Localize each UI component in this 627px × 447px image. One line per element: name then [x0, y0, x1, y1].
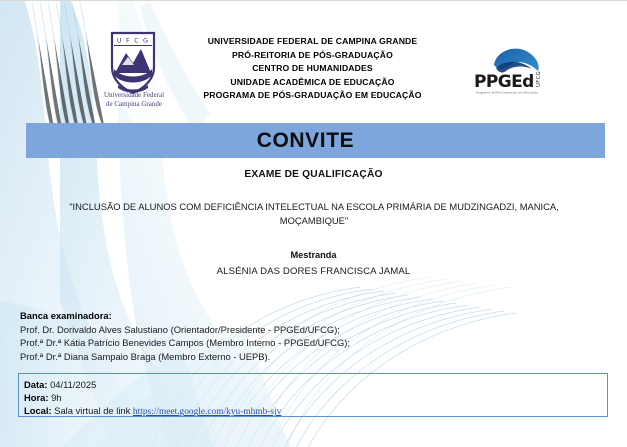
ppged-logo: PPGEd UFCG Programa de Pós-Graduação em …	[466, 43, 550, 97]
event-details-box: Data: 04/11/2025 Hora: 9h Local: Sala vi…	[18, 373, 608, 417]
svg-text:U F C G: U F C G	[117, 36, 149, 44]
date-label: Data:	[24, 379, 47, 390]
detail-row-date: Data: 04/11/2025	[24, 378, 607, 391]
place-value: Sala virtual de link	[54, 405, 130, 416]
thesis-title: "INCLUSÃO DE ALUNOS COM DEFICIÊNCIA INTE…	[34, 200, 594, 228]
header-line-2: PRÓ-REITORIA DE PÓS-GRADUAÇÃO	[175, 49, 450, 63]
committee-member: Prof.ª Dr.ª Diana Sampaio Braga (Membro …	[20, 350, 450, 364]
exam-type-label: EXAME DE QUALIFICAÇÃO	[0, 169, 627, 180]
convite-page: U F C G Universidade Federal de Campina …	[0, 0, 627, 447]
header-line-3: CENTRO DE HUMANIDADES	[175, 62, 450, 76]
place-label: Local:	[24, 405, 52, 416]
committee-member: Prof. Dr. Dorivaldo Alves Salustiano (Or…	[20, 323, 450, 337]
meet-link[interactable]: https://meet.google.com/kyu-mhmb-sjv	[133, 407, 281, 417]
ufcg-logo-caption: Universidade Federal de Campina Grande	[92, 91, 176, 108]
convite-banner: CONVITE	[26, 123, 605, 158]
svg-text:UFCG: UFCG	[536, 71, 542, 87]
header-line-5: PROGRAMA DE PÓS-GRADUAÇÃO EM EDUCAÇÃO	[175, 89, 450, 103]
institution-header-text: UNIVERSIDADE FEDERAL DE CAMPINA GRANDE P…	[175, 35, 450, 103]
student-name: ALSÉNIA DAS DORES FRANCISCA JAMAL	[0, 266, 627, 277]
student-role-label: Mestranda	[0, 250, 627, 260]
convite-title: CONVITE	[257, 129, 355, 153]
ufcg-caption-line-1: Universidade Federal	[92, 91, 176, 100]
header-line-4: UNIDADE ACADÊMICA DE EDUCAÇÃO	[175, 76, 450, 90]
committee-label: Banca examinadora:	[20, 309, 450, 323]
time-value: 9h	[51, 392, 61, 403]
detail-row-time: Hora: 9h	[24, 391, 607, 404]
svg-text:PPGEd: PPGEd	[474, 72, 534, 92]
committee-section: Banca examinadora: Prof. Dr. Dorivaldo A…	[20, 309, 450, 363]
ufcg-caption-line-2: de Campina Grande	[92, 100, 176, 109]
document-header: U F C G Universidade Federal de Campina …	[0, 27, 627, 115]
time-label: Hora:	[24, 392, 48, 403]
svg-text:Programa de Pós-Graduação em E: Programa de Pós-Graduação em Educação	[476, 91, 538, 95]
detail-row-place: Local: Sala virtual de link https://meet…	[24, 404, 607, 419]
date-value: 04/11/2025	[50, 379, 96, 390]
header-line-1: UNIVERSIDADE FEDERAL DE CAMPINA GRANDE	[175, 35, 450, 49]
committee-member: Prof.ª Dr.ª Kátia Patrício Benevides Cam…	[20, 336, 450, 350]
